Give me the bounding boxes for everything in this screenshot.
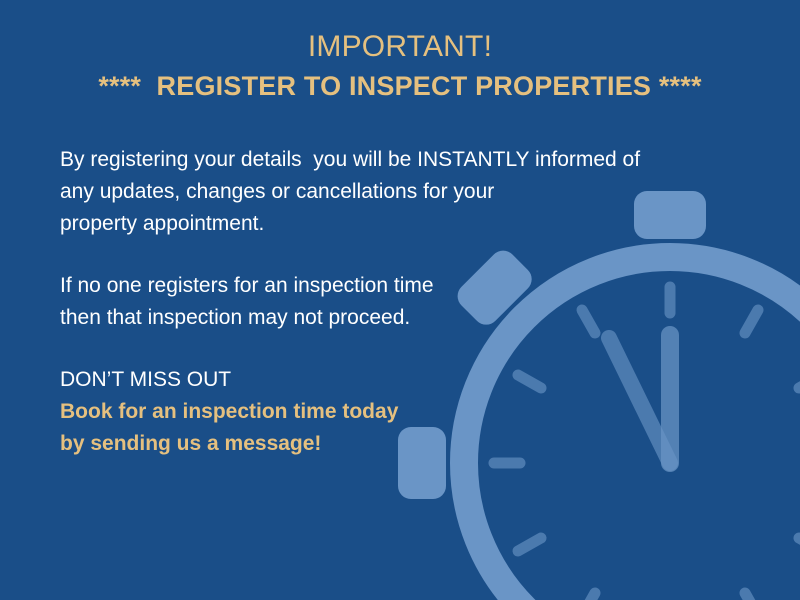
cta-dont-miss-out: DON’T MISS OUT — [60, 364, 720, 396]
cta-send-message: by sending us a message! — [60, 428, 720, 460]
slide-canvas: IMPORTANT! **** REGISTER TO INSPECT PROP… — [0, 0, 800, 600]
paragraph-2-line-2: then that inspection may not proceed. — [60, 302, 720, 334]
paragraph-call-to-action: DON’T MISS OUT Book for an inspection ti… — [60, 364, 720, 460]
paragraph-1-line-3: property appointment. — [60, 208, 720, 240]
heading-block: IMPORTANT! **** REGISTER TO INSPECT PROP… — [0, 28, 800, 106]
cta-book-inspection: Book for an inspection time today — [60, 396, 720, 428]
heading-register-to-inspect: **** REGISTER TO INSPECT PROPERTIES **** — [0, 66, 800, 106]
paragraph-registering-details: By registering your details you will be … — [60, 144, 720, 240]
paragraph-2-line-1: If no one registers for an inspection ti… — [60, 270, 720, 302]
paragraph-1-line-1: By registering your details you will be … — [60, 144, 720, 176]
paragraph-1-line-2: any updates, changes or cancellations fo… — [60, 176, 720, 208]
paragraph-no-registrations: If no one registers for an inspection ti… — [60, 270, 720, 334]
body-copy: By registering your details you will be … — [60, 144, 720, 460]
heading-important: IMPORTANT! — [0, 28, 800, 66]
